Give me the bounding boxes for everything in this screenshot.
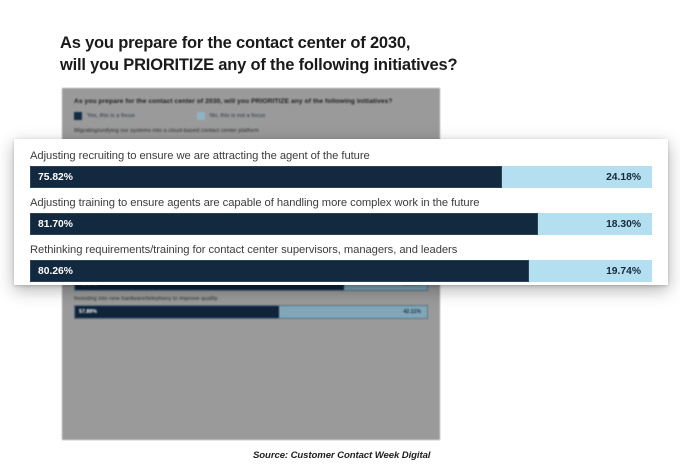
overlay-row-label: Rethinking requirements/training for con… bbox=[30, 244, 652, 256]
overlay-row-bar: 81.70%18.30% bbox=[30, 213, 652, 235]
overlay-chart-row: Adjusting recruiting to ensure we are at… bbox=[30, 150, 652, 188]
overlay-chart-row: Rethinking requirements/training for con… bbox=[30, 244, 652, 282]
background-row-yes-percent: 57.89% bbox=[75, 309, 97, 315]
overlay-row-bar-yes-segment: 75.82% bbox=[30, 166, 502, 188]
background-row-bar: 57.89%42.11% bbox=[74, 305, 428, 319]
page-title-line-1: As you prepare for the contact center of… bbox=[60, 33, 580, 55]
background-chart-legend: Yes, this is a focus No, this is not a f… bbox=[74, 112, 265, 120]
legend-label-no: No, this is not a focus bbox=[210, 113, 265, 119]
overlay-row-yes-percent: 80.26% bbox=[31, 266, 73, 277]
legend-item-yes: Yes, this is a focus bbox=[74, 112, 135, 120]
overlay-row-bar: 75.82%24.18% bbox=[30, 166, 652, 188]
background-row-label: Investing into new hardware/telephony to… bbox=[74, 296, 428, 302]
legend-swatch-yes-icon bbox=[74, 112, 82, 120]
overlay-row-bar-yes-segment: 80.26% bbox=[30, 260, 529, 282]
legend-item-no: No, this is not a focus bbox=[197, 112, 265, 120]
overlay-row-label: Adjusting training to ensure agents are … bbox=[30, 197, 652, 209]
overlay-row-yes-percent: 81.70% bbox=[31, 219, 73, 230]
legend-label-yes: Yes, this is a focus bbox=[87, 113, 135, 119]
legend-swatch-no-icon bbox=[197, 112, 205, 120]
page-title-line-2: will you PRIORITIZE any of the following… bbox=[60, 55, 580, 77]
overlay-chart-row: Adjusting training to ensure agents are … bbox=[30, 197, 652, 235]
highlight-overlay-card: Adjusting recruiting to ensure we are at… bbox=[14, 139, 668, 285]
background-row-bar-yes-segment: 57.89% bbox=[75, 306, 279, 318]
slide-canvas: As you prepare for the contact center of… bbox=[0, 0, 680, 471]
overlay-row-yes-percent: 75.82% bbox=[31, 172, 73, 183]
overlay-row-bar: 80.26%19.74% bbox=[30, 260, 652, 282]
overlay-row-no-percent: 18.30% bbox=[606, 219, 641, 230]
overlay-row-no-percent: 19.74% bbox=[606, 266, 641, 277]
overlay-rows: Adjusting recruiting to ensure we are at… bbox=[14, 139, 668, 282]
source-caption: Source: Customer Contact Week Digital bbox=[253, 450, 430, 461]
background-chart-row: Investing into new hardware/telephony to… bbox=[74, 296, 428, 319]
overlay-row-no-percent: 24.18% bbox=[606, 172, 641, 183]
background-chart-title: As you prepare for the contact center of… bbox=[74, 98, 393, 105]
background-row-label: Migrating/unifying our systems into a cl… bbox=[74, 128, 428, 134]
page-title: As you prepare for the contact center of… bbox=[60, 33, 580, 77]
overlay-row-bar-yes-segment: 81.70% bbox=[30, 213, 538, 235]
overlay-row-label: Adjusting recruiting to ensure we are at… bbox=[30, 150, 652, 162]
background-row-no-percent: 42.11% bbox=[403, 309, 421, 315]
